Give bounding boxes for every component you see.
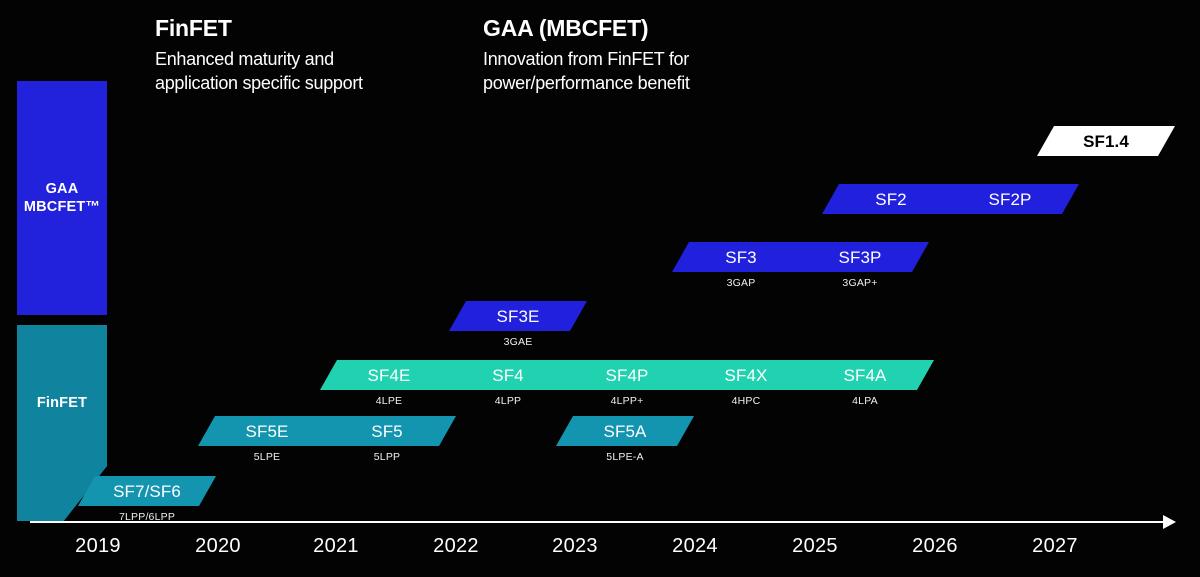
- process-node-label-sf7-sf6: SF7/SF6: [113, 483, 181, 500]
- timeline-axis-line: [30, 521, 1170, 523]
- process-node-sf2p[interactable]: SF2P: [941, 184, 1079, 214]
- process-node-sublabel-sf3: 3GAP: [672, 277, 810, 289]
- process-node-sf4x[interactable]: SF4X: [677, 360, 815, 390]
- category-label-finfet: FinFET: [37, 394, 87, 412]
- process-node-sf3e[interactable]: SF3E: [449, 301, 587, 331]
- process-node-sublabel-sf4x: 4HPC: [677, 395, 815, 407]
- process-node-sublabel-sf4p: 4LPP+: [558, 395, 696, 407]
- process-node-sf4[interactable]: SF4: [439, 360, 577, 390]
- year-label-2019: 2019: [58, 535, 138, 558]
- year-label-2027: 2027: [1015, 535, 1095, 558]
- process-node-label-sf3e: SF3E: [497, 308, 540, 325]
- process-node-sf3p[interactable]: SF3P: [791, 242, 929, 272]
- year-label-2026: 2026: [895, 535, 975, 558]
- process-node-sublabel-sf3p: 3GAP+: [791, 277, 929, 289]
- process-node-sf1-4[interactable]: SF1.4: [1037, 126, 1175, 156]
- process-node-label-sf3p: SF3P: [839, 249, 882, 266]
- process-node-label-sf2p: SF2P: [989, 191, 1032, 208]
- process-node-label-sf4x: SF4X: [725, 367, 768, 384]
- section-header-finfet: FinFETEnhanced maturity and application …: [155, 16, 363, 96]
- process-node-label-sf4a: SF4A: [844, 367, 887, 384]
- section-title-gaa: GAA (MBCFET): [483, 16, 690, 41]
- timeline-arrow-icon: [1163, 515, 1176, 529]
- year-label-2023: 2023: [535, 535, 615, 558]
- process-node-label-sf1-4: SF1.4: [1083, 133, 1129, 150]
- process-node-sublabel-sf3e: 3GAE: [449, 336, 587, 348]
- category-block-gaa-mbcfet: GAA MBCFET™: [17, 81, 107, 315]
- process-node-sf5[interactable]: SF5: [318, 416, 456, 446]
- process-node-sublabel-sf5a: 5LPE-A: [556, 451, 694, 463]
- process-node-label-sf3: SF3: [725, 249, 756, 266]
- process-node-label-sf4p: SF4P: [606, 367, 649, 384]
- section-header-gaa: GAA (MBCFET)Innovation from FinFET for p…: [483, 16, 690, 96]
- process-node-sublabel-sf4a: 4LPA: [796, 395, 934, 407]
- process-node-sublabel-sf5: 5LPP: [318, 451, 456, 463]
- process-node-sublabel-sf4: 4LPP: [439, 395, 577, 407]
- section-subtitle-gaa: Innovation from FinFET for power/perform…: [483, 48, 690, 96]
- process-node-sf5a[interactable]: SF5A: [556, 416, 694, 446]
- process-node-sf7-sf6[interactable]: SF7/SF6: [78, 476, 216, 506]
- year-label-2020: 2020: [178, 535, 258, 558]
- process-node-label-sf4e: SF4E: [368, 367, 411, 384]
- process-node-sf5e[interactable]: SF5E: [198, 416, 336, 446]
- year-label-2024: 2024: [655, 535, 735, 558]
- process-node-sf2[interactable]: SF2: [822, 184, 960, 214]
- process-node-label-sf5e: SF5E: [246, 423, 289, 440]
- section-title-finfet: FinFET: [155, 16, 363, 41]
- process-node-label-sf4: SF4: [492, 367, 523, 384]
- process-node-sf4e[interactable]: SF4E: [320, 360, 458, 390]
- process-node-label-sf5: SF5: [371, 423, 402, 440]
- year-label-2025: 2025: [775, 535, 855, 558]
- section-subtitle-finfet: Enhanced maturity and application specif…: [155, 48, 363, 96]
- roadmap-canvas: FinFETEnhanced maturity and application …: [0, 0, 1200, 577]
- year-label-2022: 2022: [416, 535, 496, 558]
- category-label-gaa-mbcfet: GAA MBCFET™: [24, 180, 100, 216]
- process-node-label-sf5a: SF5A: [604, 423, 647, 440]
- process-node-sublabel-sf4e: 4LPE: [320, 395, 458, 407]
- process-node-sf3[interactable]: SF3: [672, 242, 810, 272]
- process-node-sf4a[interactable]: SF4A: [796, 360, 934, 390]
- process-node-sublabel-sf5e: 5LPE: [198, 451, 336, 463]
- process-node-label-sf2: SF2: [875, 191, 906, 208]
- year-label-2021: 2021: [296, 535, 376, 558]
- process-node-sf4p[interactable]: SF4P: [558, 360, 696, 390]
